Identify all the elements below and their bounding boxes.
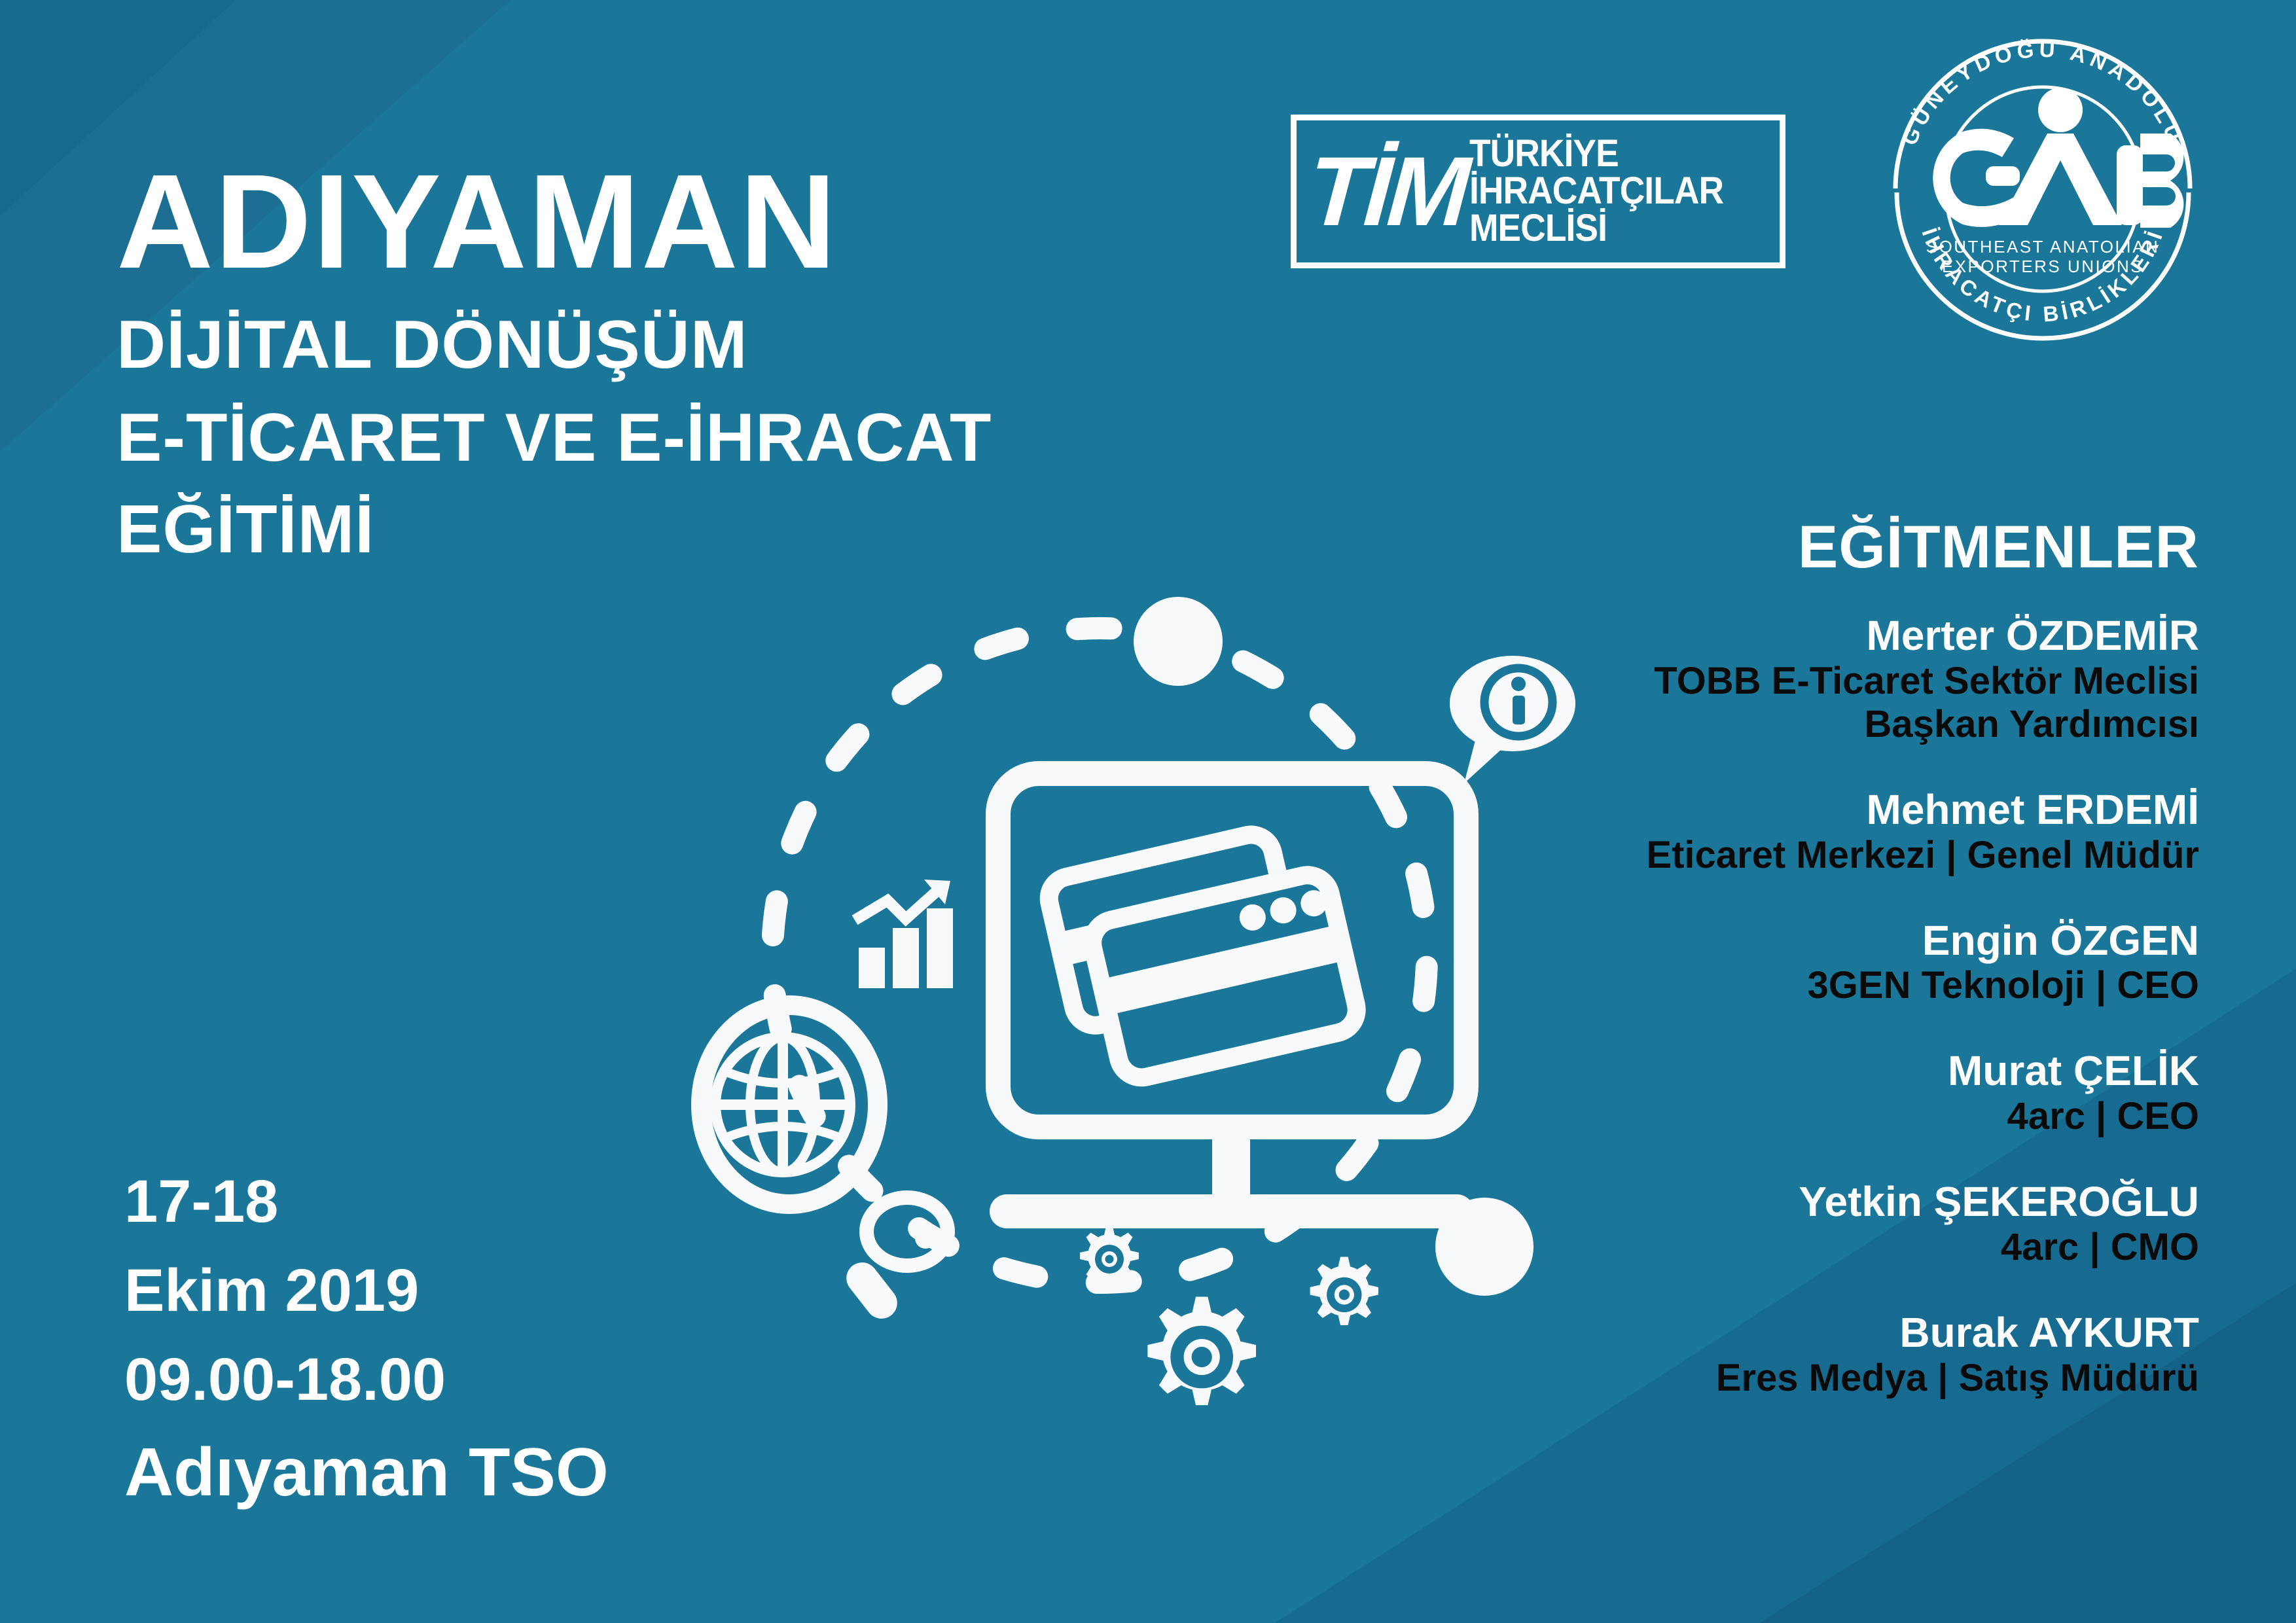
tim-logo-line-3: MECLİSİ xyxy=(1469,210,1723,247)
tim-logo: TİM TÜRKİYE İHRACATÇILAR MECLİSİ xyxy=(1291,115,1785,268)
tim-wordmark: TİM xyxy=(1306,151,1469,232)
growth-chart-icon xyxy=(855,880,953,988)
gaib-center-line-2: EXPORTERS UNIONS xyxy=(1942,257,2144,276)
gaib-arc-top-text: GÜNEYDOĞU ANADOLU xyxy=(1897,37,2189,149)
gear-icon xyxy=(1080,1226,1139,1285)
ecommerce-illustration xyxy=(668,537,1597,1427)
event-days: 17-18 xyxy=(124,1171,609,1232)
gaib-logo: GÜNEYDOĞU ANADOLU İHRACATÇI BİRLİKLERİ xyxy=(1876,17,2210,351)
gear-icon xyxy=(1310,1257,1378,1325)
gaib-center-line-1: SOUTHEAST ANATOLIAN xyxy=(1926,237,2160,257)
info-bubble-icon xyxy=(1450,656,1575,783)
magnifier-icon xyxy=(840,1198,948,1325)
tim-logo-text: TÜRKİYE İHRACATÇILAR MECLİSİ xyxy=(1469,135,1746,247)
globe-icon xyxy=(701,1005,878,1204)
event-hours: 09.00-18.00 xyxy=(124,1349,609,1410)
credit-card-icon xyxy=(1088,870,1361,1082)
poster-title-block: ADIYAMAN DİJİTAL DÖNÜŞÜM E-TİCARET VE E-… xyxy=(117,154,992,563)
dot-icon xyxy=(1134,597,1223,686)
tim-logo-line-1: TÜRKİYE xyxy=(1469,135,1723,173)
gear-icon xyxy=(1147,1297,1256,1406)
title-line-3: E-TİCARET VE E-İHRACAT xyxy=(117,404,992,472)
event-poster: ADIYAMAN DİJİTAL DÖNÜŞÜM E-TİCARET VE E-… xyxy=(0,0,2296,1623)
event-month-year: Ekim 2019 xyxy=(124,1260,609,1321)
title-city: ADIYAMAN xyxy=(117,154,992,289)
tim-logo-line-2: İHRACATÇILAR xyxy=(1469,173,1723,210)
event-venue: Adıyaman TSO xyxy=(124,1438,609,1507)
title-line-2: DİJİTAL DÖNÜŞÜM xyxy=(117,311,992,379)
event-details-block: 17-18 Ekim 2019 09.00-18.00 Adıyaman TSO xyxy=(124,1171,609,1507)
